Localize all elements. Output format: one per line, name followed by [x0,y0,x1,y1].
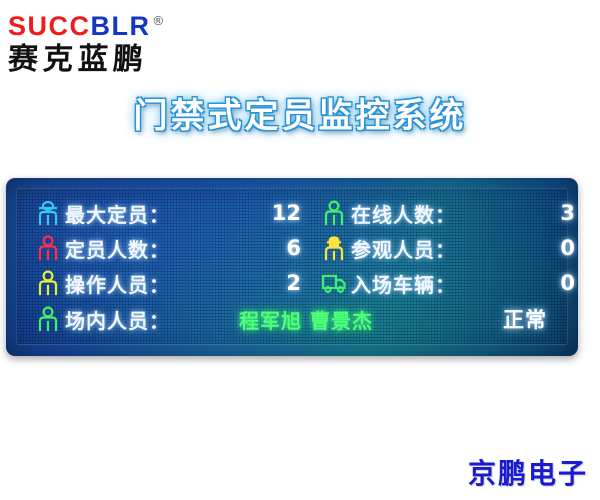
person-green-icon [317,200,351,226]
led-label: 定员人数： [65,234,215,263]
footer-brand: 京鹏电子 [468,452,588,492]
led-value: 6 [215,236,301,260]
led-value: 0 [501,236,575,260]
brand-wordmark: SUCCBLR® [8,6,238,41]
led-label: 参观人员： [351,234,501,263]
led-field-visitor-count: 参观人员： 0 [317,234,578,263]
person-cap-icon [31,200,65,226]
led-label: 最大定员： [65,199,215,228]
led-field-max-capacity: 最大定员： 12 [31,199,317,228]
led-row: 最大定员： 12 在线人数： 3 [17,196,567,231]
led-value: 0 [501,271,575,295]
led-field-online-count: 在线人数： 3 [317,199,578,228]
led-row: 定员人数： 6 参观人员： 0 [17,231,567,266]
brand-chinese-name: 赛克蓝鹏 [7,42,239,78]
led-label: 操作人员： [65,269,215,298]
onsite-personnel-names: 程军旭 曹景杰 [215,305,503,334]
person-red-icon [31,235,65,261]
led-field-vehicles-entered: 入场车辆： 0 [317,269,578,298]
wordmark-succ: SUCC [8,11,91,41]
led-label: 入场车辆： [351,269,501,298]
led-value: 3 [501,201,575,225]
led-value: 12 [215,201,301,225]
truck-icon [317,272,351,294]
brand-logo: SUCCBLR® 赛克蓝鹏 [8,6,238,74]
led-label-onsite: 场内人员： [65,305,215,334]
led-screen: 最大定员： 12 在线人数： 3 [16,188,568,345]
led-value: 2 [215,271,301,295]
led-field-operator-count: 操作人员： 2 [31,269,317,298]
person-helmet-icon [317,235,351,261]
led-row: 操作人员： 2 入场车辆： 0 [17,266,567,301]
wordmark-blr: BLR [91,11,151,41]
led-field-quota-count: 定员人数： 6 [31,234,317,263]
page-title: 门禁式定员监控系统 [0,88,600,137]
person-onsite-icon [31,306,65,332]
led-row-onsite-personnel: 场内人员： 程军旭 曹景杰 正常 [17,301,567,338]
led-label: 在线人数： [351,199,501,228]
led-display-panel: 最大定员： 12 在线人数： 3 [6,178,578,356]
status-badge: 正常 [503,304,561,334]
person-yellow-icon [31,270,65,296]
registered-trademark-icon: ® [154,13,165,28]
